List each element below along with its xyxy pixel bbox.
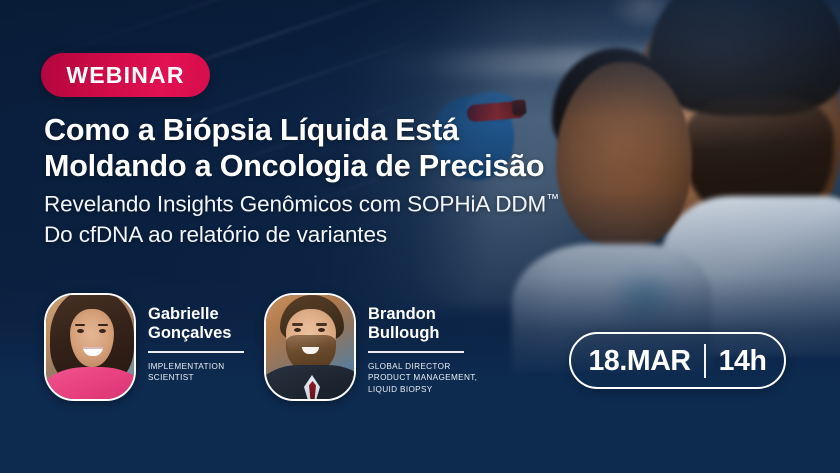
- speaker-card-brandon: Brandon Bullough GLOBAL DIRECTOR PRODUCT…: [264, 293, 477, 401]
- speaker-avatar-brandon: [264, 293, 356, 401]
- speaker-name-line-2: Gonçalves: [148, 324, 244, 343]
- avatar-pink-shirt: [44, 367, 136, 401]
- speakers-list: Gabrielle Gonçalves IMPLEMENTATION SCIEN…: [44, 293, 477, 401]
- webinar-badge: WEBINAR: [41, 53, 210, 97]
- subtitle-line-1-text: Revelando Insights Genômicos com SOPHiA …: [44, 192, 546, 217]
- event-time: 14h: [719, 346, 767, 376]
- speaker-avatar-gabrielle: [44, 293, 136, 401]
- event-date: 18.MAR: [588, 346, 690, 376]
- speaker-role-line-2: SCIENTIST: [148, 372, 244, 384]
- subtitle-line-2: Do cfDNA ao relatório de variantes: [44, 220, 644, 250]
- webinar-badge-label: WEBINAR: [66, 62, 184, 89]
- avatar-eye-right: [318, 328, 325, 332]
- speaker-role-line-1: IMPLEMENTATION: [148, 361, 244, 373]
- speaker-name-line-1: Gabrielle: [148, 305, 244, 324]
- title-block: Como a Biópsia Líquida Está Moldando a O…: [44, 112, 644, 250]
- speaker-divider-rule: [368, 351, 464, 353]
- speaker-card-gabrielle: Gabrielle Gonçalves IMPLEMENTATION SCIEN…: [44, 293, 244, 401]
- event-date-separator: [704, 344, 706, 378]
- speaker-role-line-3: LIQUID BIOPSY: [368, 384, 477, 396]
- speaker-divider-rule: [148, 351, 244, 353]
- title-line-1: Como a Biópsia Líquida Está: [44, 112, 644, 148]
- speaker-info-gabrielle: Gabrielle Gonçalves IMPLEMENTATION SCIEN…: [148, 293, 244, 384]
- avatar-eye-left: [294, 328, 301, 332]
- banner-content: WEBINAR Como a Biópsia Líquida Está Mold…: [0, 0, 840, 473]
- speaker-name-line-1: Brandon: [368, 305, 477, 324]
- avatar-eyebrow-left: [292, 323, 303, 326]
- avatar-eye-left: [77, 329, 84, 333]
- speaker-role-line-2: PRODUCT MANAGEMENT,: [368, 372, 477, 384]
- trademark-symbol: ™: [546, 191, 559, 206]
- avatar-eye-right: [99, 329, 106, 333]
- speaker-role-line-1: GLOBAL DIRECTOR: [368, 361, 477, 373]
- speaker-info-brandon: Brandon Bullough GLOBAL DIRECTOR PRODUCT…: [368, 293, 477, 395]
- webinar-banner: WEBINAR Como a Biópsia Líquida Está Mold…: [0, 0, 840, 473]
- event-date-badge: 18.MAR 14h: [569, 332, 786, 389]
- subtitle-line-1: Revelando Insights Genômicos com SOPHiA …: [44, 184, 644, 220]
- speaker-name-line-2: Bullough: [368, 324, 477, 343]
- title-line-2: Moldando a Oncologia de Precisão: [44, 148, 644, 184]
- avatar-eyebrow-right: [316, 323, 327, 326]
